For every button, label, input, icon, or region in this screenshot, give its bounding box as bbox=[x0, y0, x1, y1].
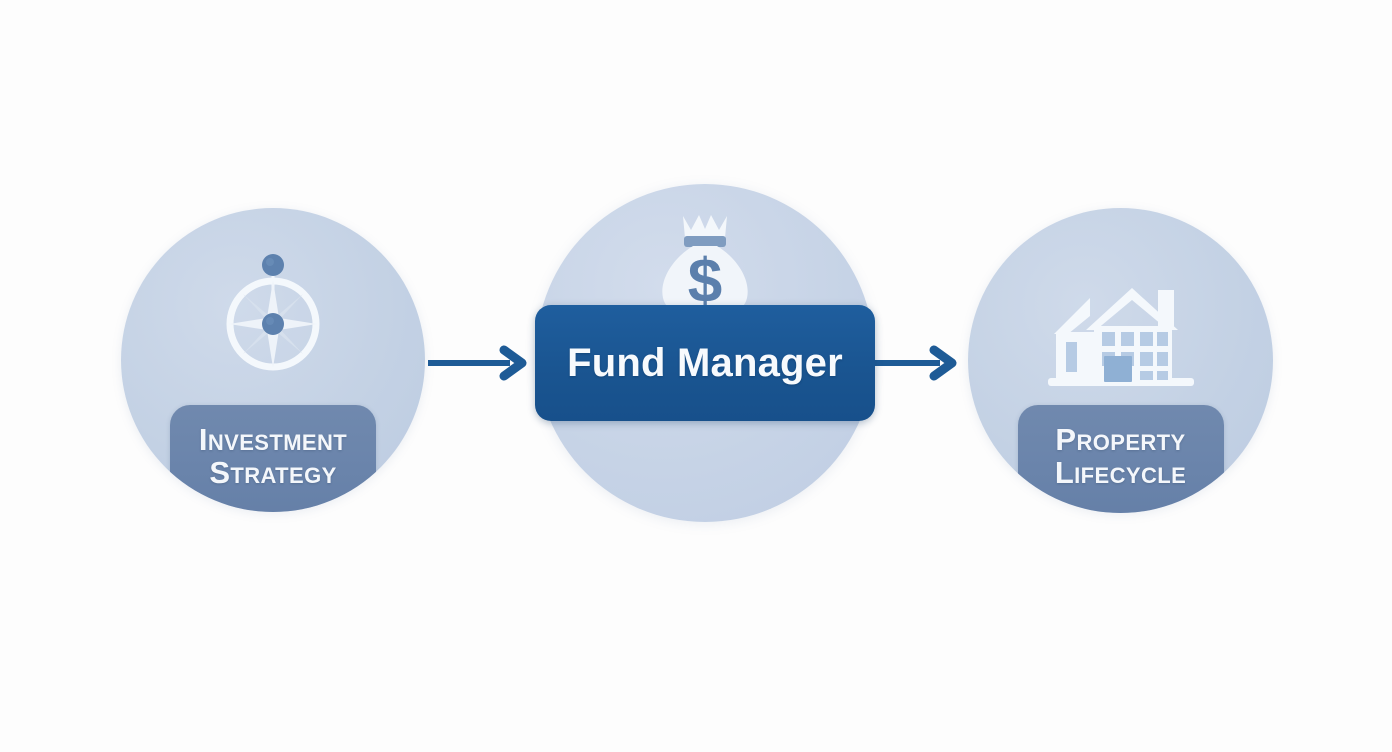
arrow-strategy-to-manager bbox=[428, 342, 540, 384]
node-investment-strategy[interactable]: Investment Strategy bbox=[121, 208, 425, 512]
pill-label-line-2: Lifecycle bbox=[1055, 456, 1186, 489]
house-icon bbox=[1046, 272, 1196, 392]
banner-label: Fund Manager bbox=[567, 341, 843, 386]
node-property-lifecycle[interactable]: Property Lifecycle bbox=[968, 208, 1273, 513]
pill-label-line-1: Investment bbox=[199, 423, 347, 456]
arrow-manager-to-property bbox=[866, 342, 968, 384]
flow-diagram: Investment Strategy $ Fund bbox=[0, 0, 1392, 752]
banner-fund-manager[interactable]: Fund Manager bbox=[535, 305, 875, 421]
pill-label-line-2: Strategy bbox=[209, 456, 336, 489]
compass-icon bbox=[211, 252, 335, 380]
label-pill-investment-strategy: Investment Strategy bbox=[170, 405, 376, 512]
pill-label-line-1: Property bbox=[1055, 423, 1185, 456]
label-pill-property-lifecycle: Property Lifecycle bbox=[1018, 405, 1224, 513]
node-fund-manager[interactable]: $ Fund Manager bbox=[536, 184, 874, 522]
